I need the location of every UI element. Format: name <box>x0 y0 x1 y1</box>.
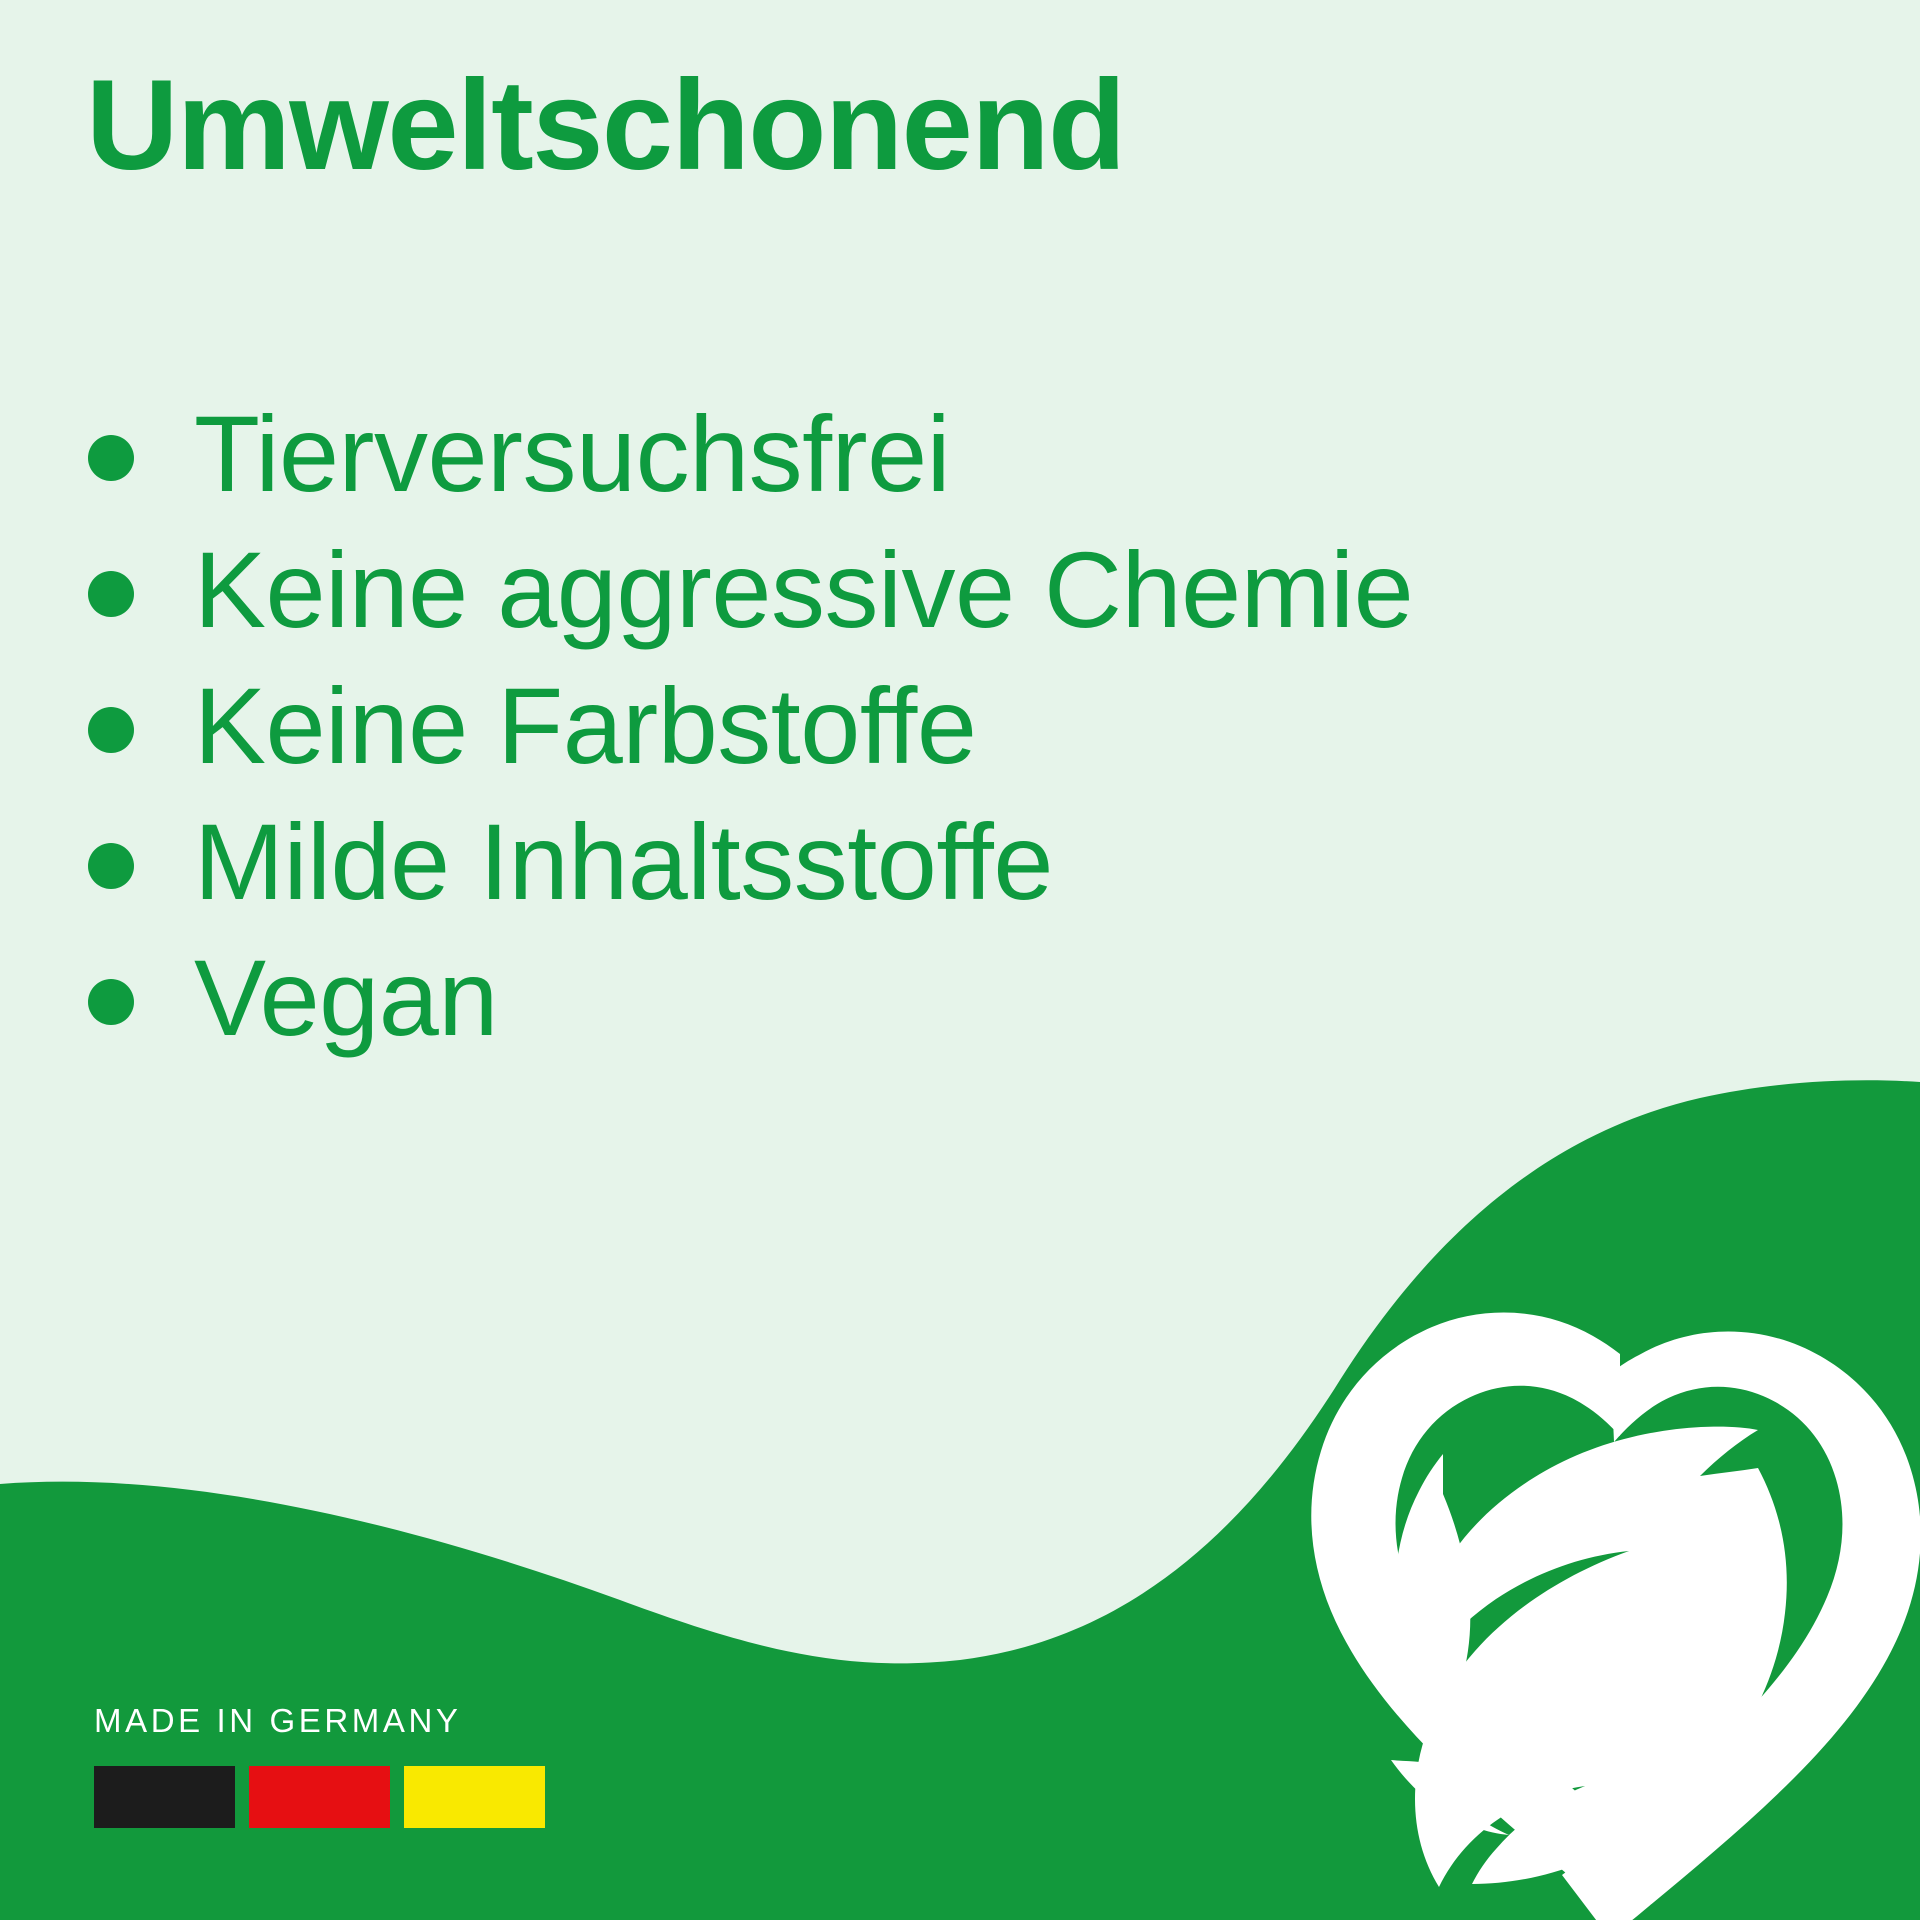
bullet-dot-icon <box>88 843 134 889</box>
feature-label: Keine aggressive Chemie <box>194 536 1413 644</box>
eco-feature-card: Umweltschonend Tierversuchsfrei Keine ag… <box>0 0 1920 1920</box>
bullet-dot-icon <box>88 979 134 1025</box>
flag-bar-gold <box>404 1766 545 1828</box>
bullet-dot-icon <box>88 435 134 481</box>
bullet-dot-icon <box>88 707 134 753</box>
list-item: Vegan <box>88 934 1413 1070</box>
list-item: Milde Inhaltsstoffe <box>88 798 1413 934</box>
german-flag-icon <box>94 1766 614 1828</box>
feature-list: Tierversuchsfrei Keine aggressive Chemie… <box>88 390 1413 1070</box>
made-in-germany-label: MADE IN GERMANY <box>94 1704 614 1737</box>
feature-label: Tierversuchsfrei <box>194 400 950 508</box>
flag-bar-red <box>249 1766 390 1828</box>
feature-label: Keine Farbstoffe <box>194 672 977 780</box>
page-title: Umweltschonend <box>86 62 1125 190</box>
flag-bar-black <box>94 1766 235 1828</box>
list-item: Keine aggressive Chemie <box>88 526 1413 662</box>
list-item: Tierversuchsfrei <box>88 390 1413 526</box>
feature-label: Vegan <box>194 944 498 1052</box>
made-in-germany-badge: MADE IN GERMANY <box>94 1704 614 1828</box>
list-item: Keine Farbstoffe <box>88 662 1413 798</box>
feature-label: Milde Inhaltsstoffe <box>194 808 1053 916</box>
bullet-dot-icon <box>88 571 134 617</box>
